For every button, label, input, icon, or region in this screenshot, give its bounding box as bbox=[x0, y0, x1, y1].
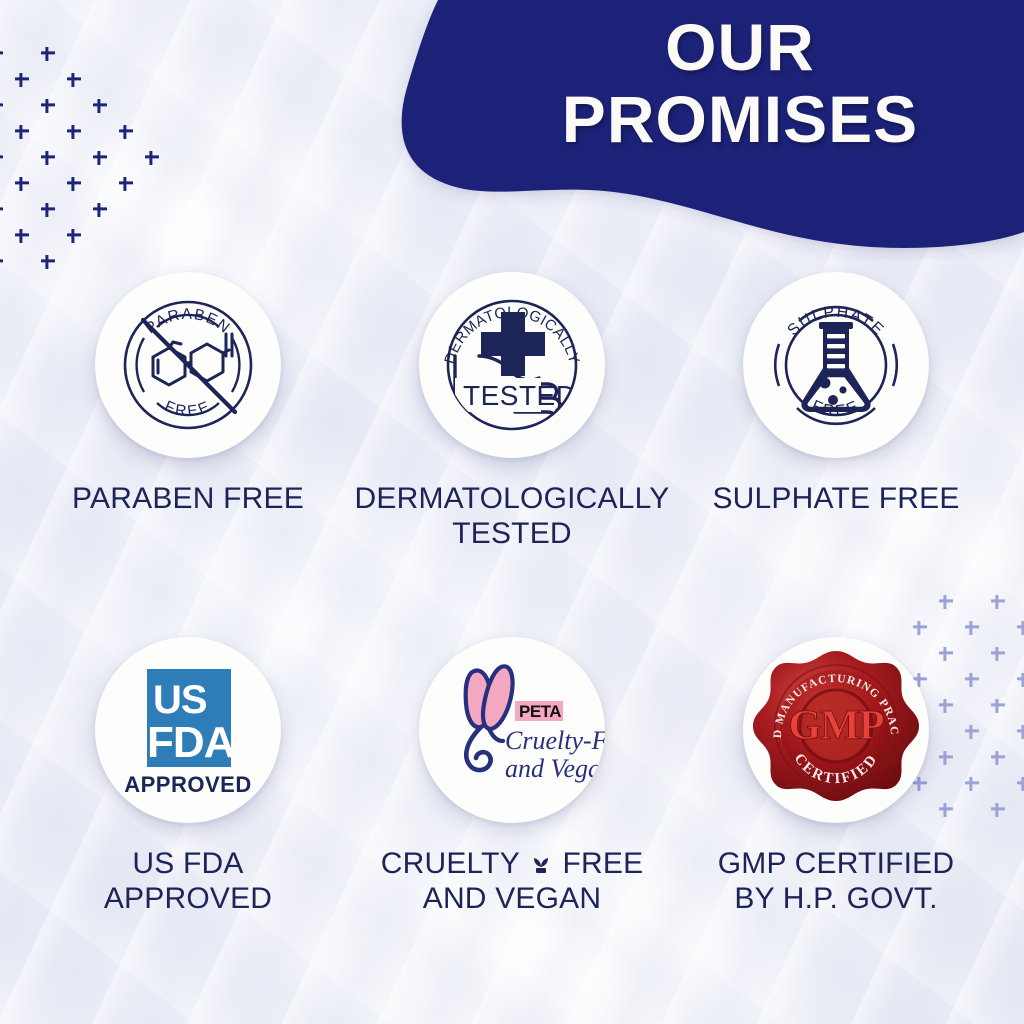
badge-caption-dermatologically-tested: DERMATOLOGICALLY TESTED bbox=[355, 482, 670, 552]
badge-caption-paraben-free: PARABEN FREE bbox=[72, 482, 304, 517]
peta-slogan-line-2: and Vegan bbox=[505, 754, 605, 783]
badge-disc-cruelty-free-and-vegan: PETA Cruelty-Free and Vegan bbox=[419, 637, 605, 823]
us-fda-approved-label: APPROVED bbox=[124, 772, 251, 797]
badge-caption-line-2: AND VEGAN bbox=[381, 882, 644, 917]
badge-caption-line-1-part-a: CRUELTY bbox=[381, 847, 520, 880]
flask-icon bbox=[801, 322, 870, 412]
badge-caption-line-1: PARABEN FREE bbox=[72, 482, 304, 517]
badge-caption-gmp-certified: GMP CERTIFIED BY H.P. GOVT. bbox=[718, 847, 955, 917]
badge-caption-line-1: CRUELTY FREE bbox=[381, 847, 644, 882]
badge-caption-line-1-part-b: FREE bbox=[562, 847, 643, 880]
badge-item-dermatologically-tested[interactable]: TESTED DERMATOLOGICALLY DERMATOLOGICALLY… bbox=[350, 272, 674, 637]
badge-disc-dermatologically-tested: TESTED DERMATOLOGICALLY bbox=[419, 272, 605, 458]
paraben-free-seal-icon: PARABEN FREE bbox=[95, 272, 281, 458]
peta-cruelty-free-vegan-logo-icon: PETA Cruelty-Free and Vegan bbox=[419, 637, 605, 823]
badge-caption-line-1: GMP CERTIFIED bbox=[718, 847, 955, 882]
badge-item-sulphate-free[interactable]: SULPHATE FREE SULPHATE FREE bbox=[674, 272, 998, 637]
peta-slogan-line-1: Cruelty-Free bbox=[505, 726, 605, 755]
badge-caption-us-fda-approved: US FDA APPROVED bbox=[104, 847, 272, 917]
paraben-free-arc-bottom-text: FREE bbox=[162, 398, 214, 421]
badge-caption-line-1: SULPHATE FREE bbox=[712, 482, 959, 517]
badge-caption-cruelty-free-and-vegan: CRUELTY FREE AND VEGAN bbox=[381, 847, 644, 917]
sprout-glyph-icon bbox=[531, 855, 551, 875]
peta-brand-label: PETA bbox=[519, 702, 561, 721]
badge-disc-sulphate-free: SULPHATE FREE bbox=[743, 272, 929, 458]
dermatologically-tested-label: TESTED bbox=[463, 380, 576, 411]
badge-item-gmp-certified[interactable]: GOOD MANUFACTURING PRACTICE CERTIFIED GM… bbox=[674, 637, 998, 1002]
gmp-center-label: GMP bbox=[789, 703, 884, 749]
badge-disc-paraben-free: PARABEN FREE bbox=[95, 272, 281, 458]
badge-disc-us-fda-approved: US FDA APPROVED bbox=[95, 637, 281, 823]
badge-caption-sulphate-free: SULPHATE FREE bbox=[712, 482, 959, 517]
badge-caption-line-1: DERMATOLOGICALLY bbox=[355, 482, 670, 517]
badge-item-us-fda-approved[interactable]: US FDA APPROVED US FDA APPROVED bbox=[26, 637, 350, 1002]
badge-disc-gmp-certified: GOOD MANUFACTURING PRACTICE CERTIFIED GM… bbox=[743, 637, 929, 823]
badge-caption-line-1: US FDA bbox=[104, 847, 272, 882]
us-fda-approved-logo-icon: US FDA APPROVED bbox=[95, 637, 281, 823]
badge-item-paraben-free[interactable]: PARABEN FREE PARABEN FREE bbox=[26, 272, 350, 637]
us-fda-line-2: FDA bbox=[147, 718, 235, 767]
badge-caption-line-2: APPROVED bbox=[104, 882, 272, 917]
sulphate-free-seal-icon: SULPHATE FREE bbox=[743, 272, 929, 458]
gmp-certified-wax-seal-icon: GOOD MANUFACTURING PRACTICE CERTIFIED GM… bbox=[743, 637, 929, 823]
badge-item-cruelty-free-and-vegan[interactable]: PETA Cruelty-Free and Vegan CRUELTY FREE… bbox=[350, 637, 674, 1002]
badge-caption-line-2: BY H.P. GOVT. bbox=[718, 882, 955, 917]
us-fda-line-1: US bbox=[153, 678, 207, 722]
dermatologically-tested-seal-icon: TESTED DERMATOLOGICALLY bbox=[419, 272, 605, 458]
badge-caption-line-2: TESTED bbox=[355, 517, 670, 552]
header-banner-shape bbox=[0, 0, 1024, 260]
